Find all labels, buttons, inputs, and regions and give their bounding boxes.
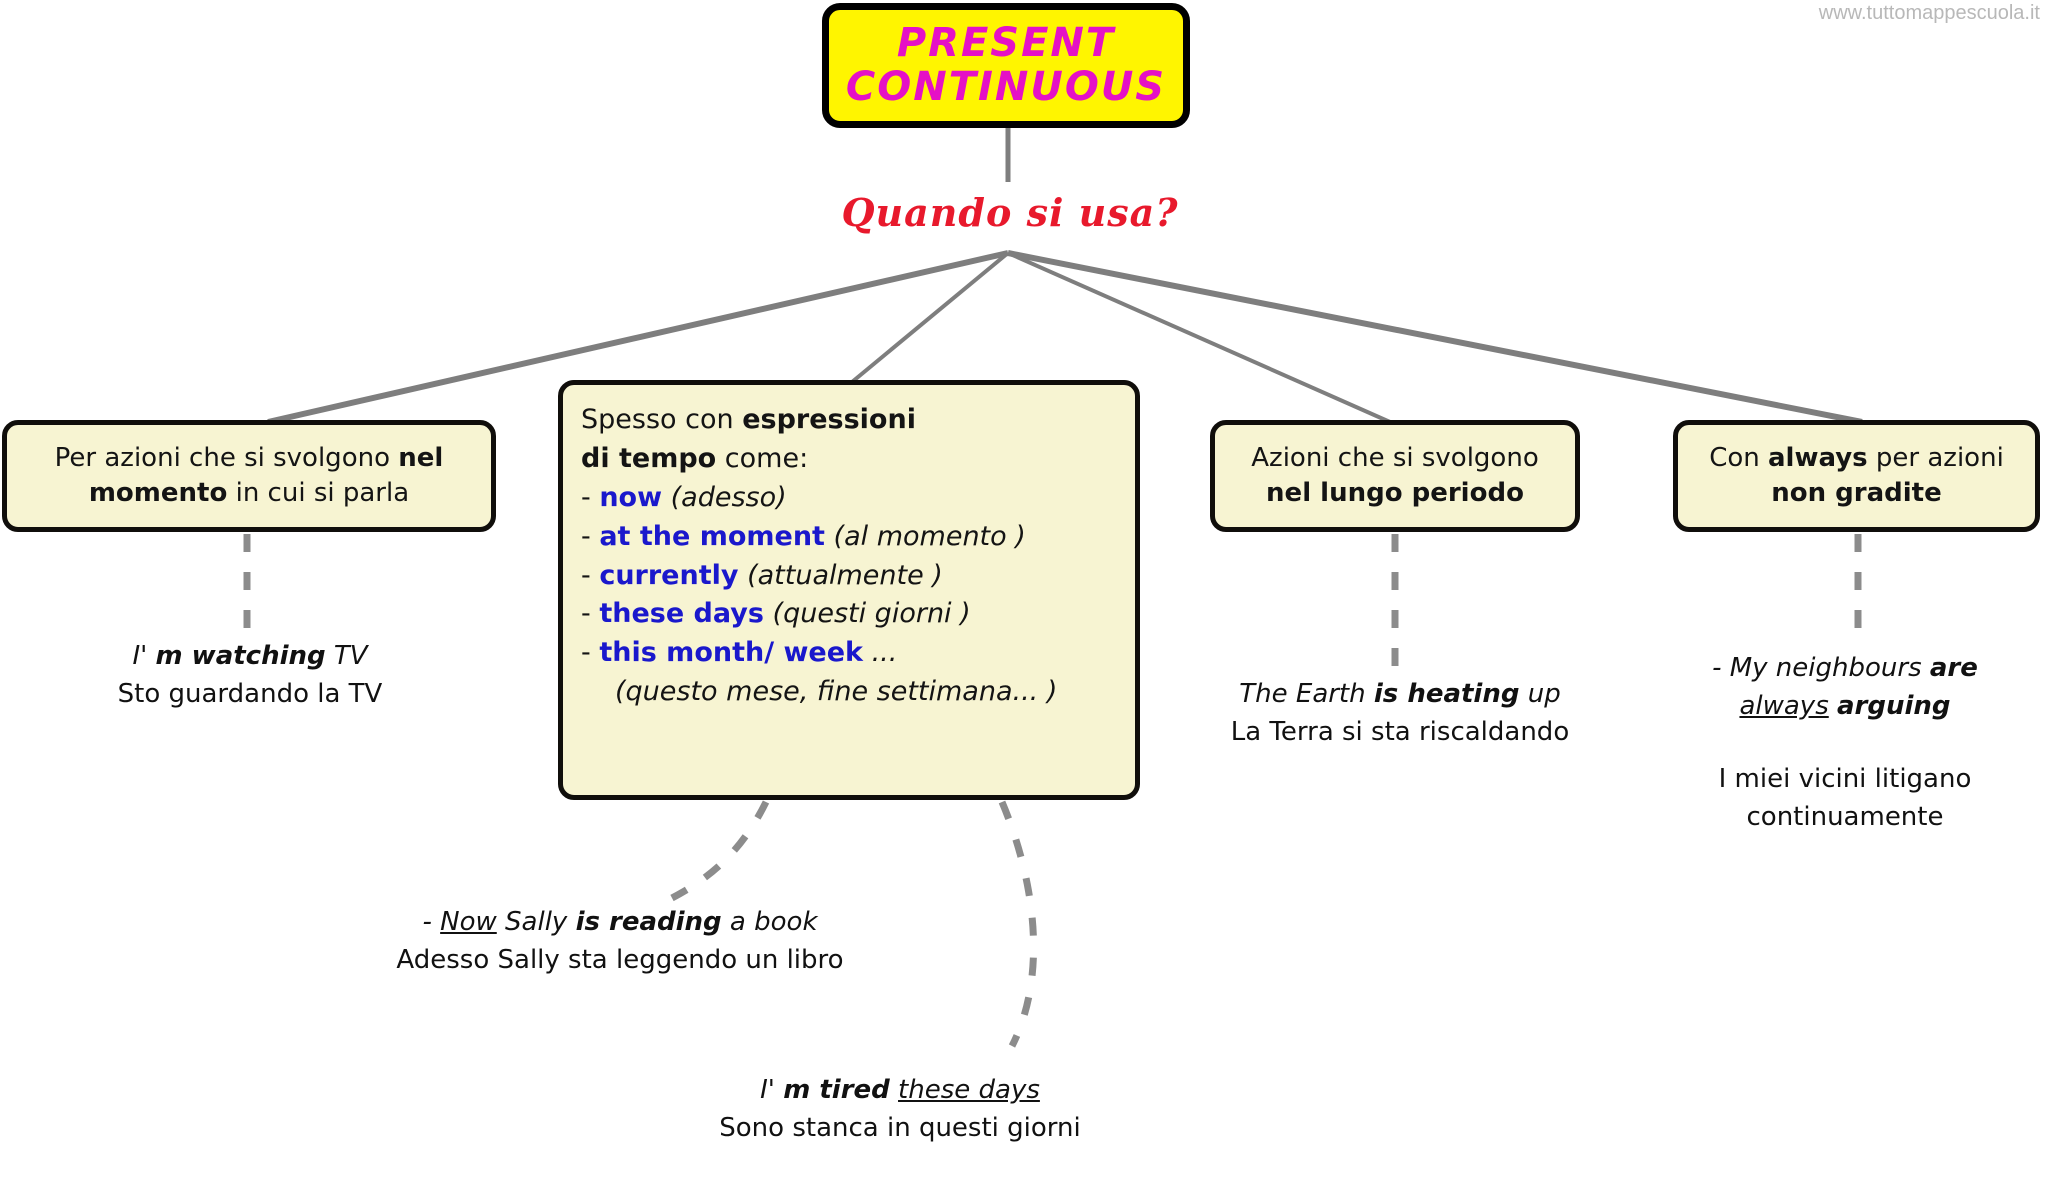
- link-box2-to-example-right: [1002, 802, 1034, 1046]
- branch-box-lungo-periodo-line-1: Azioni che si svolgono: [1251, 441, 1538, 476]
- branch-box-espressioni-content: Spesso con espressioni di tempo come: - …: [581, 401, 1117, 712]
- example-watching-tv-english: I' m watching TV: [0, 638, 500, 676]
- example-spacer: [1640, 725, 2048, 761]
- root-title-line-1: PRESENT: [897, 22, 1115, 65]
- example-tired-these-days: I' m tired these days Sono stanca in que…: [620, 1072, 1180, 1147]
- example-neighbours-italian-line-2: continuamente: [1640, 799, 2048, 837]
- branch-box-lungo-periodo-line-2: nel lungo periodo: [1266, 476, 1524, 511]
- hub-question-label: Quando si usa?: [700, 190, 1320, 235]
- example-neighbours-italian-line-1: I miei vicini litigano: [1640, 761, 2048, 799]
- example-earth-heating-italian: La Terra si sta riscaldando: [1150, 714, 1650, 752]
- branch-box-always-line-1: Con always per azioni: [1709, 441, 2004, 476]
- example-tired-italian: Sono stanca in questi giorni: [620, 1110, 1180, 1148]
- espressioni-item-these-days: - these days (questi giorni ): [581, 595, 1117, 634]
- example-tired-english: I' m tired these days: [620, 1072, 1180, 1110]
- branch-box-always-non-gradite: Con always per azioni non gradite: [1673, 420, 2040, 532]
- espressioni-heading-line-2: di tempo come:: [581, 440, 1117, 479]
- branch-box-momento-text: Per azioni che si svolgono nel momento i…: [7, 425, 491, 527]
- example-watching-tv-italian: Sto guardando la TV: [0, 676, 500, 714]
- espressioni-item-currently: - currently (attualmente ): [581, 557, 1117, 596]
- branch-box-lungo-periodo-text: Azioni che si svolgono nel lungo periodo: [1215, 425, 1575, 527]
- root-title-line-2: CONTINUOUS: [846, 66, 1166, 109]
- example-watching-tv: I' m watching TV Sto guardando la TV: [0, 638, 500, 713]
- branch-box-momento: Per azioni che si svolgono nel momento i…: [2, 420, 496, 532]
- example-earth-heating: The Earth is heating up La Terra si sta …: [1150, 676, 1650, 751]
- espressioni-item-footer: (questo mese, fine settimana... ): [581, 673, 1117, 712]
- example-now-sally-reading: - Now Sally is reading a book Adesso Sal…: [330, 904, 910, 979]
- branch-box-lungo-periodo: Azioni che si svolgono nel lungo periodo: [1210, 420, 1580, 532]
- example-neighbours-arguing: - My neighbours are always arguing I mie…: [1640, 650, 2048, 837]
- example-neighbours-english-line-2: always arguing: [1640, 688, 2048, 726]
- link-box2-to-example-left: [672, 802, 766, 898]
- site-watermark: www.tuttomappescuola.it: [1819, 2, 2040, 25]
- example-now-sally-italian: Adesso Sally sta leggendo un libro: [330, 942, 910, 980]
- branch-box-always-text: Con always per azioni non gradite: [1678, 425, 2035, 527]
- branch-box-always-line-2: non gradite: [1771, 476, 1942, 511]
- root-node-present-continuous: PRESENT CONTINUOUS: [822, 3, 1190, 128]
- espressioni-item-at-the-moment: - at the moment (al momento ): [581, 518, 1117, 557]
- example-neighbours-english-line-1: - My neighbours are: [1640, 650, 2048, 688]
- link-hub-to-box2: [852, 253, 1008, 382]
- example-now-sally-english: - Now Sally is reading a book: [330, 904, 910, 942]
- espressioni-item-this-month-week: - this month/ week ...: [581, 634, 1117, 673]
- example-earth-heating-english: The Earth is heating up: [1150, 676, 1650, 714]
- branch-box-momento-line-2: momento in cui si parla: [89, 476, 409, 511]
- espressioni-heading-line-1: Spesso con espressioni: [581, 401, 1117, 440]
- branch-box-momento-line-1: Per azioni che si svolgono nel: [55, 441, 444, 476]
- mindmap-canvas: www.tuttomappescuola.it PRESENT CONTINUO…: [0, 0, 2048, 1188]
- branch-box-espressioni-di-tempo: Spesso con espressioni di tempo come: - …: [558, 380, 1140, 800]
- espressioni-item-now: - now (adesso): [581, 479, 1117, 518]
